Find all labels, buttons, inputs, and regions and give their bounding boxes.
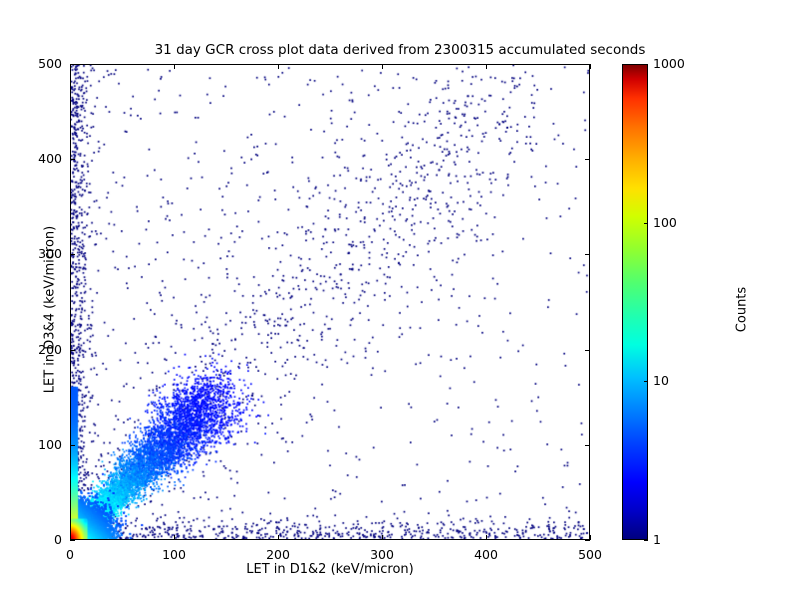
x-axis-label: LET in D1&2 (keV/micron) (70, 562, 590, 577)
scatter-plot-area (70, 64, 590, 540)
axis-tick (70, 445, 75, 446)
axis-tick-label: 500 (578, 547, 602, 562)
colorbar (622, 64, 648, 540)
axis-tick (174, 535, 175, 540)
colorbar-tick-label: 100 (653, 215, 677, 230)
colorbar-tick (644, 64, 648, 65)
scatter-canvas (71, 65, 589, 539)
axis-tick (486, 535, 487, 540)
axis-tick (382, 535, 383, 540)
axis-tick (278, 535, 279, 540)
axis-tick (585, 350, 590, 351)
axis-tick (70, 540, 75, 541)
axis-tick-label: 0 (66, 547, 74, 562)
axis-tick (382, 64, 383, 69)
colorbar-tick (644, 381, 648, 382)
axis-tick (70, 350, 75, 351)
axis-tick (585, 159, 590, 160)
y-axis-label: LET in D3&4 (keV/micron) (43, 160, 58, 460)
axis-tick (590, 535, 591, 540)
axis-tick (70, 64, 75, 65)
colorbar-tick-label: 1000 (653, 56, 685, 71)
axis-tick-label: 200 (266, 547, 290, 562)
axis-tick-label: 500 (38, 56, 62, 71)
colorbar-tick (644, 540, 648, 541)
axis-tick (585, 445, 590, 446)
axis-tick-label: 0 (54, 532, 62, 547)
axis-tick (585, 64, 590, 65)
colorbar-tick-label: 1 (653, 532, 661, 547)
axis-tick-label: 100 (162, 547, 186, 562)
axis-tick (278, 64, 279, 69)
colorbar-tick-label: 10 (653, 373, 669, 388)
axis-tick-label: 300 (370, 547, 394, 562)
axis-tick-label: 400 (474, 547, 498, 562)
colorbar-tick (644, 223, 648, 224)
axis-tick (70, 254, 75, 255)
figure: 31 day GCR cross plot data derived from … (0, 0, 800, 600)
axis-tick (585, 254, 590, 255)
colorbar-label: Counts (735, 160, 750, 460)
axis-tick (486, 64, 487, 69)
axis-tick (585, 540, 590, 541)
axis-tick (590, 64, 591, 69)
axis-tick (70, 159, 75, 160)
axis-tick (174, 64, 175, 69)
